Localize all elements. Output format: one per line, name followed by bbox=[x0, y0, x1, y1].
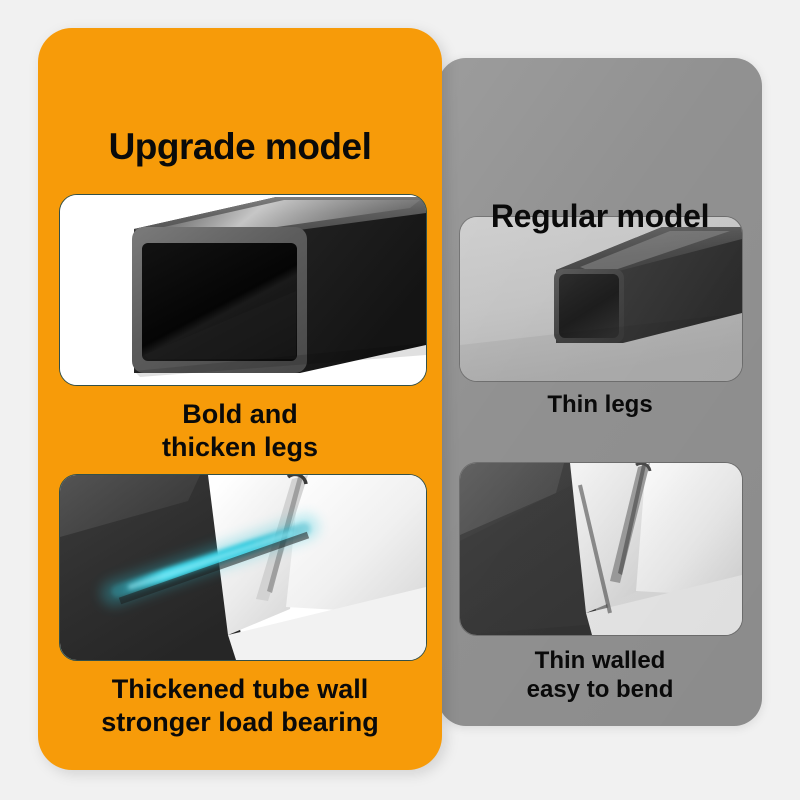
thick-wall-closeup-illustration bbox=[60, 475, 426, 660]
regular-model-panel: Regular model bbox=[438, 58, 762, 726]
regular-feature-1-caption-line1: Thin legs bbox=[438, 390, 762, 419]
regular-feature-1-caption: Thin legs bbox=[438, 390, 762, 419]
upgrade-model-title: Upgrade model bbox=[38, 126, 442, 168]
upgrade-feature-2-caption: Thickened tube wall stronger load bearin… bbox=[38, 673, 442, 739]
upgrade-model-panel: Upgrade model bbox=[38, 28, 442, 770]
regular-feature-2-caption-line1: Thin walled bbox=[438, 646, 762, 675]
thick-square-steel-tube-photo bbox=[59, 194, 427, 386]
thin-tube-wall-closeup-photo bbox=[459, 462, 743, 636]
thin-square-steel-tube-photo bbox=[459, 216, 743, 382]
thick-tube-illustration bbox=[60, 195, 426, 385]
upgrade-feature-2-caption-line2: stronger load bearing bbox=[38, 706, 442, 739]
upgrade-feature-2-caption-line1: Thickened tube wall bbox=[38, 673, 442, 706]
upgrade-feature-1-caption-line1: Bold and bbox=[38, 398, 442, 431]
thick-tube-wall-closeup-photo bbox=[59, 474, 427, 661]
thin-tube-illustration bbox=[460, 217, 742, 381]
regular-feature-2-caption: Thin walled easy to bend bbox=[438, 646, 762, 705]
upgrade-feature-1-caption-line2: thicken legs bbox=[38, 431, 442, 464]
upgrade-feature-1-caption: Bold and thicken legs bbox=[38, 398, 442, 464]
thin-wall-closeup-illustration bbox=[460, 463, 742, 635]
regular-feature-2-caption-line2: easy to bend bbox=[438, 675, 762, 704]
regular-model-title: Regular model bbox=[438, 198, 762, 235]
comparison-infographic: Regular model bbox=[0, 0, 800, 800]
